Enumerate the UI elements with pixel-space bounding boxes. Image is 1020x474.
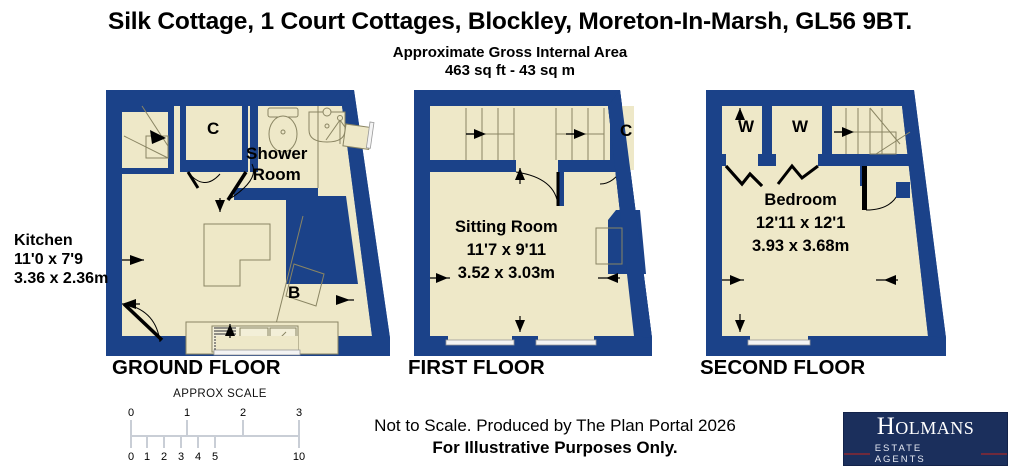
scale-bottom-tick-3: 3 — [178, 451, 184, 462]
bedroom-name: Bedroom — [752, 189, 849, 212]
ground-shower-bottom-wall — [226, 188, 318, 200]
scale-top-tick-2: 2 — [240, 407, 246, 419]
second-stair-enclosure-wall — [860, 154, 918, 166]
ground-window-bottom — [214, 336, 300, 355]
kitchen-imperial: 11'0 x 7'9 — [14, 251, 108, 269]
shower-room-name-line2: Room — [246, 164, 307, 185]
ground-stair-bottom-wall — [122, 168, 174, 174]
bedroom-label: Bedroom 12'11 x 12'1 3.93 x 3.68m — [752, 189, 849, 258]
second-wardrobe-gap-1 — [726, 154, 758, 166]
gross-internal-area-label: Approximate Gross Internal Area — [0, 44, 1020, 61]
scale-bottom-tick-0: 0 — [128, 451, 134, 462]
first-cupboard-tag: C — [620, 121, 632, 141]
scale-bottom-tick-10: 10 — [293, 451, 305, 462]
scale-bottom-tick-1: 1 — [144, 451, 150, 462]
disclaimer-line1: Not to Scale. Produced by The Plan Porta… — [330, 416, 780, 436]
ground-floor-plan: C B — [100, 88, 400, 356]
ground-boiler-tag: B — [288, 283, 300, 303]
ground-floor-label: GROUND FLOOR — [112, 356, 281, 380]
approx-scale-title: APPROX SCALE — [125, 388, 315, 400]
logo-tagline-row: ESTATE AGENTS — [844, 443, 1007, 465]
sitting-room-label: Sitting Room 11'7 x 9'11 3.52 x 3.03m — [455, 216, 558, 285]
kitchen-name: Kitchen — [14, 232, 108, 250]
bedroom-imperial: 12'11 x 12'1 — [752, 212, 849, 235]
second-wardrobe-right-tag: W — [792, 117, 808, 137]
second-wardrobe-gap-2 — [776, 154, 818, 166]
sitting-room-imperial: 11'7 x 9'11 — [455, 239, 558, 262]
approx-scale: APPROX SCALE 0 1 2 3 — [125, 388, 315, 467]
shower-room-label: Shower Room — [246, 143, 307, 186]
ground-stair-top-wall — [122, 106, 174, 112]
second-floor-label: SECOND FLOOR — [700, 356, 865, 380]
bedroom-metric: 3.93 x 3.68m — [752, 235, 849, 258]
disclaimer-line2: For Illustrative Purposes Only. — [330, 438, 780, 458]
floorplan-page: Silk Cottage, 1 Court Cottages, Blockley… — [0, 0, 1020, 474]
logo-rule-right — [981, 453, 1007, 455]
page-title: Silk Cottage, 1 Court Cottages, Blockley… — [0, 8, 1020, 36]
scale-top-ticks — [131, 420, 299, 436]
scale-bottom-tick-2: 2 — [161, 451, 167, 462]
kitchen-metric: 3.36 x 2.36m — [14, 270, 108, 288]
second-wardrobe-divider-2 — [822, 106, 832, 158]
logo-brand-name: Holmans — [877, 414, 975, 439]
second-stair-partition — [862, 166, 867, 210]
sitting-room-metric: 3.52 x 3.03m — [455, 262, 558, 285]
second-window-bottom — [748, 328, 810, 345]
ground-cupboard-tag: C — [207, 119, 219, 139]
holmans-logo[interactable]: Holmans ESTATE AGENTS — [843, 412, 1008, 466]
first-landing-gap — [516, 160, 558, 172]
logo-rule-left — [844, 453, 870, 455]
scale-top-tick-0: 0 — [128, 407, 134, 419]
sitting-room-name: Sitting Room — [455, 216, 558, 239]
first-floor-label: FIRST FLOOR — [408, 356, 545, 380]
second-wardrobe-left-tag: W — [738, 117, 754, 137]
ground-stair-right-wall — [168, 106, 174, 174]
logo-tagline: ESTATE AGENTS — [875, 443, 977, 465]
scale-top-tick-3: 3 — [296, 407, 302, 419]
second-door-reveal — [896, 182, 910, 198]
shower-room-name-line1: Shower — [246, 143, 307, 164]
scale-top-tick-1: 1 — [184, 407, 190, 419]
kitchen-room-label: Kitchen 11'0 x 7'9 3.36 x 2.36m — [14, 232, 108, 288]
scale-bottom-tick-4: 4 — [195, 451, 201, 462]
scale-bottom-tick-5: 5 — [212, 451, 218, 462]
second-wardrobe-divider-1 — [762, 106, 772, 158]
gross-internal-area-value: 463 sq ft - 43 sq m — [0, 62, 1020, 79]
ground-window-right — [343, 122, 374, 149]
scale-bottom-ticks — [131, 436, 299, 448]
